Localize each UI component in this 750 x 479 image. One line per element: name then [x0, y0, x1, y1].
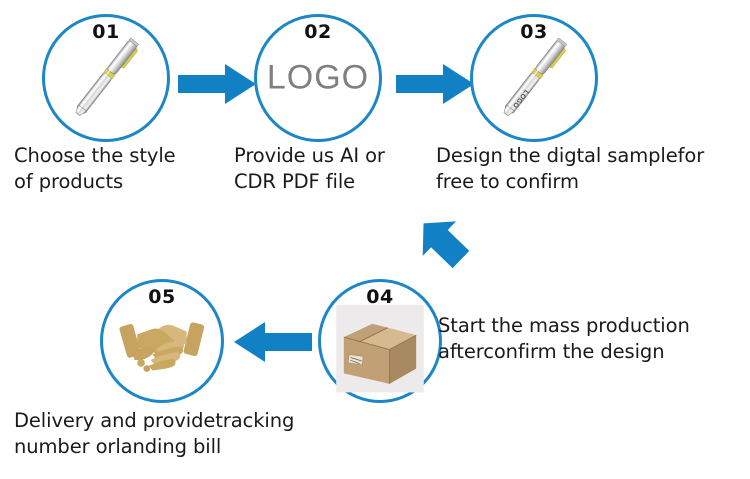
step-circle-03[interactable]: 03 — [470, 14, 598, 142]
step-caption-02: Provide us AI or CDR PDF file — [234, 143, 464, 195]
arrow-step4-to-step5 — [232, 320, 312, 364]
step-caption-03: Design the digtal samplefor free to conf… — [436, 143, 750, 195]
step-circle-01[interactable]: 01 — [42, 14, 170, 142]
step-circle-05[interactable]: 05 — [100, 279, 224, 403]
step-caption-05: Delivery and providetracking number orla… — [14, 408, 364, 460]
pen-icon — [45, 17, 167, 139]
step-caption-04: Start the mass production afterconfirm t… — [438, 313, 748, 365]
arrow-step3-to-step4 — [408, 203, 488, 291]
arrow-step2-to-step3 — [396, 62, 476, 106]
handshake-icon — [103, 282, 221, 400]
step-number-02: 02 — [257, 23, 379, 42]
step-circle-04[interactable]: 04 — [318, 279, 442, 403]
step-circle-02[interactable]: 02 LOGO — [254, 14, 382, 142]
step-caption-01: Choose the style of products — [14, 143, 234, 195]
arrow-step1-to-step2 — [178, 62, 258, 106]
process-flow-diagram: 01 — [0, 0, 750, 479]
logo-text: LOGO — [257, 59, 379, 98]
cardboard-box-icon — [321, 282, 439, 400]
pen-with-logo-icon: LOGO — [473, 17, 595, 139]
